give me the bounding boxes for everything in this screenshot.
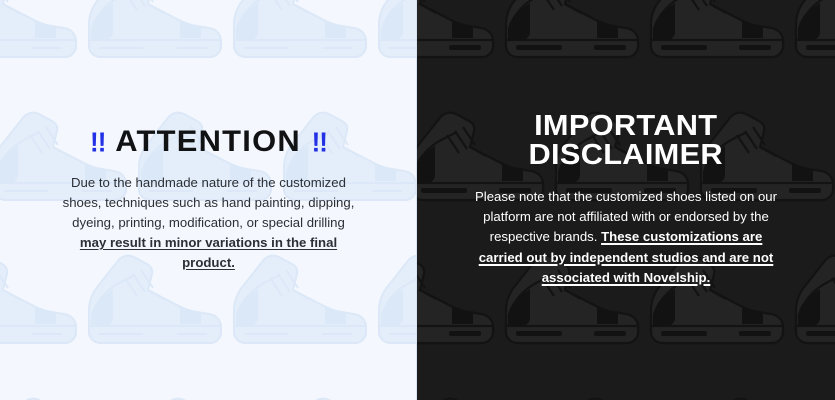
attention-content: !! ATTENTION !! Due to the handmade natu…	[0, 0, 417, 400]
exclamation-left-icon: !!	[90, 128, 105, 156]
disclaimer-content: IMPORTANT DISCLAIMER Please note that th…	[417, 0, 835, 400]
attention-body: Due to the handmade nature of the custom…	[59, 173, 359, 273]
attention-heading-text: ATTENTION	[116, 127, 302, 157]
attention-heading: !! ATTENTION !!	[90, 127, 327, 157]
attention-body-emphasis: may result in minor variations in the fi…	[80, 235, 337, 270]
panel-divider	[416, 0, 417, 400]
customization-notice-banner: !! ATTENTION !! Due to the handmade natu…	[0, 0, 835, 400]
attention-body-normal: Due to the handmade nature of the custom…	[63, 175, 355, 230]
disclaimer-heading-line-1: IMPORTANT	[529, 112, 723, 141]
disclaimer-body: Please note that the customized shoes li…	[470, 187, 782, 287]
disclaimer-panel: IMPORTANT DISCLAIMER Please note that th…	[417, 0, 835, 400]
disclaimer-heading: IMPORTANT DISCLAIMER	[529, 112, 723, 170]
exclamation-right-icon: !!	[312, 128, 327, 156]
disclaimer-heading-line-2: DISCLAIMER	[529, 141, 723, 170]
attention-panel: !! ATTENTION !! Due to the handmade natu…	[0, 0, 417, 400]
